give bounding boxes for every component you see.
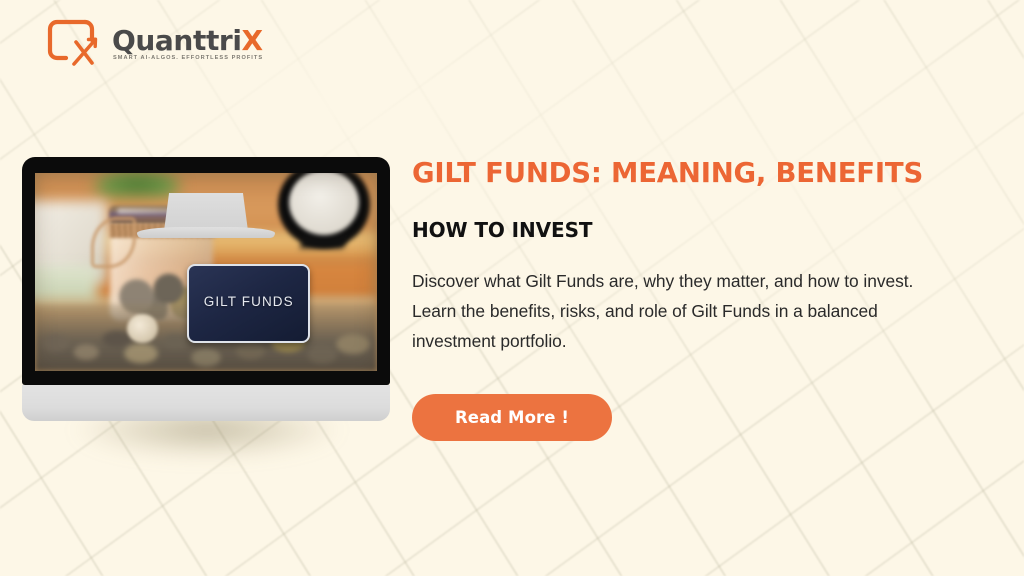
photo-book-stack: [35, 266, 97, 302]
brand-logo[interactable]: QuanttriX SMART AI-ALGOS. EFFORTLESS PRO…: [45, 16, 263, 70]
monitor-stand-base: [137, 227, 275, 238]
monitor-mockup: GILT FUNDS: [22, 157, 390, 421]
read-more-button[interactable]: Read More !: [412, 394, 612, 441]
monitor-chin: [22, 385, 390, 421]
photo-plant-blur: [93, 173, 182, 197]
monitor-stand-neck: [164, 193, 248, 231]
brand-tagline: SMART AI-ALGOS. EFFORTLESS PROFITS: [112, 56, 263, 62]
chalkboard-label: GILT FUNDS: [204, 294, 294, 309]
monitor-bezel: GILT FUNDS: [22, 157, 390, 385]
page-title: GILT FUNDS: MEANING, BENEFITS: [412, 158, 972, 188]
body-paragraph: Discover what Gilt Funds are, why they m…: [412, 267, 957, 357]
photo-chalkboard-sign: GILT FUNDS: [187, 264, 310, 343]
brand-wordmark-group: QuanttriX SMART AI-ALGOS. EFFORTLESS PRO…: [112, 24, 263, 62]
banner-canvas: QuanttriX SMART AI-ALGOS. EFFORTLESS PRO…: [0, 0, 1024, 576]
page-subtitle: HOW TO INVEST: [412, 219, 972, 241]
quanttrix-bracket-arrow-icon: [45, 16, 103, 70]
photo-bright-coin: [127, 314, 158, 344]
brand-wordmark: QuanttriX: [112, 27, 263, 55]
brand-wordmark-accent: X: [242, 24, 263, 57]
content-column: GILT FUNDS: MEANING, BENEFITS HOW TO INV…: [412, 158, 972, 441]
brand-wordmark-dark: Quanttri: [112, 24, 242, 57]
